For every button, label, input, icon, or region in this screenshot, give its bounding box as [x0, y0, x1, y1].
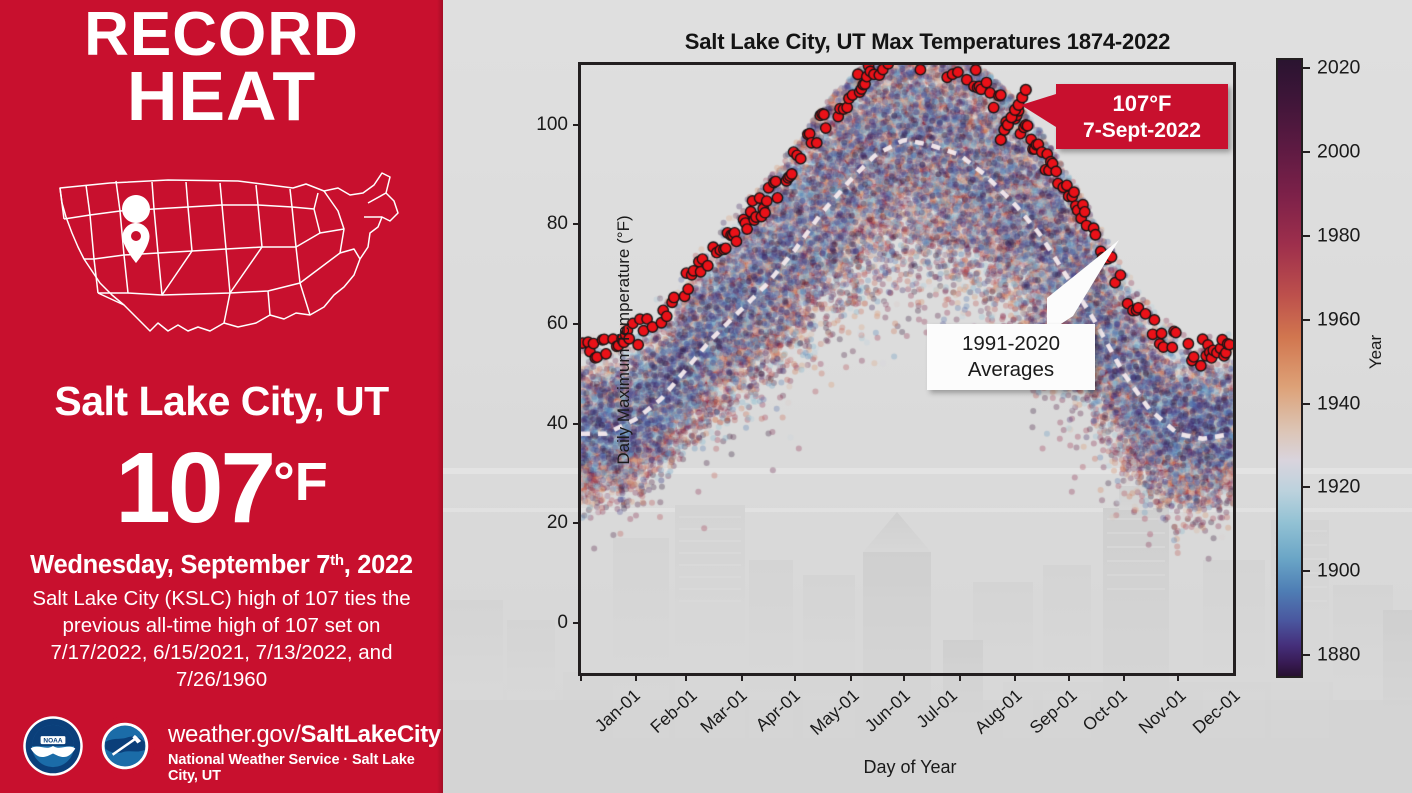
left-info-panel: RECORD HEAT	[0, 0, 443, 793]
colorbar-tick-mark	[1301, 67, 1310, 69]
website-url-prefix: weather.gov/	[168, 721, 301, 748]
colorbar-tick-mark	[1301, 235, 1310, 237]
y-tick-label: 100	[519, 114, 581, 136]
record-callout-temp: 107°F	[1056, 91, 1228, 117]
map-pin-icon	[122, 195, 150, 263]
svg-text:NOAA: NOAA	[43, 738, 62, 745]
colorbar-label: Year	[1366, 335, 1386, 369]
agency-name: National Weather Service · Salt Lake Cit…	[168, 752, 441, 784]
noaa-logo-icon: NOAA	[22, 715, 84, 777]
website-link[interactable]: weather.gov/SaltLakeCity National Weathe…	[168, 721, 441, 784]
x-tick-mark	[850, 673, 852, 681]
y-axis-label: Daily Maximum Temperature (°F)	[614, 185, 634, 495]
colorbar-tick-mark	[1301, 319, 1310, 321]
x-tick-mark	[903, 673, 905, 681]
x-tick-mark	[959, 673, 961, 681]
record-date-ordinal: th	[330, 552, 344, 569]
chart-panel: Salt Lake City, UT Max Temperatures 1874…	[443, 0, 1412, 793]
averages-callout: 1991-2020 Averages	[927, 324, 1095, 390]
colorbar-tick-mark	[1301, 486, 1310, 488]
scatter-plot-canvas-wrap	[581, 65, 1233, 673]
x-tick-mark	[1068, 673, 1070, 681]
plot-axes: 020406080100 Jan-01Feb-01Mar-01Apr-01May…	[578, 62, 1236, 676]
city-name: Salt Lake City, UT	[0, 378, 443, 425]
colorbar-tick-mark	[1301, 570, 1310, 572]
record-date-prefix: Wednesday, September 7	[30, 551, 330, 579]
record-callout: 107°F 7-Sept-2022	[1056, 84, 1228, 149]
y-tick-label: 60	[519, 313, 581, 335]
chart-title: Salt Lake City, UT Max Temperatures 1874…	[443, 29, 1412, 55]
x-tick-mark	[1177, 673, 1179, 681]
x-tick-mark	[1014, 673, 1016, 681]
nws-logo-icon	[94, 715, 156, 777]
y-tick-label: 0	[519, 612, 581, 634]
y-tick-mark	[573, 522, 581, 524]
headline-line-2: HEAT	[0, 64, 443, 129]
headline-line-1: RECORD	[0, 6, 443, 64]
averages-callout-line2: Averages	[927, 358, 1095, 382]
record-date-year: , 2022	[344, 551, 413, 579]
y-tick-label: 40	[519, 413, 581, 435]
x-tick-mark	[1123, 673, 1125, 681]
record-temperature-unit: °F	[273, 452, 328, 512]
us-map-icon	[38, 155, 408, 355]
y-tick-mark	[573, 223, 581, 225]
record-description: Salt Lake City (KSLC) high of 107 ties t…	[22, 586, 421, 693]
x-tick-mark	[635, 673, 637, 681]
x-tick-mark	[741, 673, 743, 681]
headline: RECORD HEAT	[0, 6, 443, 129]
record-date: Wednesday, September 7th, 2022	[0, 551, 443, 580]
colorbar-tick-mark	[1301, 151, 1310, 153]
y-tick-mark	[573, 622, 581, 624]
y-tick-label: 20	[519, 512, 581, 534]
x-tick-mark	[794, 673, 796, 681]
x-tick-mark	[580, 673, 582, 681]
colorbar-tick-mark	[1301, 403, 1310, 405]
x-tick-mark	[685, 673, 687, 681]
y-tick-mark	[573, 323, 581, 325]
colorbar-tick-mark	[1301, 654, 1310, 656]
y-tick-mark	[573, 423, 581, 425]
infographic-root: RECORD HEAT	[0, 0, 1412, 793]
x-axis-label: Day of Year	[581, 757, 1239, 778]
record-temperature-value: 107	[115, 432, 273, 544]
y-tick-label: 80	[519, 213, 581, 235]
record-callout-date: 7-Sept-2022	[1056, 119, 1228, 143]
record-temperature: 107°F	[0, 438, 443, 538]
scatter-plot-canvas	[581, 65, 1233, 673]
averages-callout-pointer	[1043, 238, 1123, 333]
website-url-bold: SaltLakeCity	[301, 721, 441, 748]
footer: NOAA weather.gov/SaltLakeCity National W…	[16, 713, 436, 779]
year-colorbar: 18801900192019401960198020002020	[1276, 58, 1303, 678]
y-tick-mark	[573, 124, 581, 126]
averages-callout-line1: 1991-2020	[927, 332, 1095, 356]
